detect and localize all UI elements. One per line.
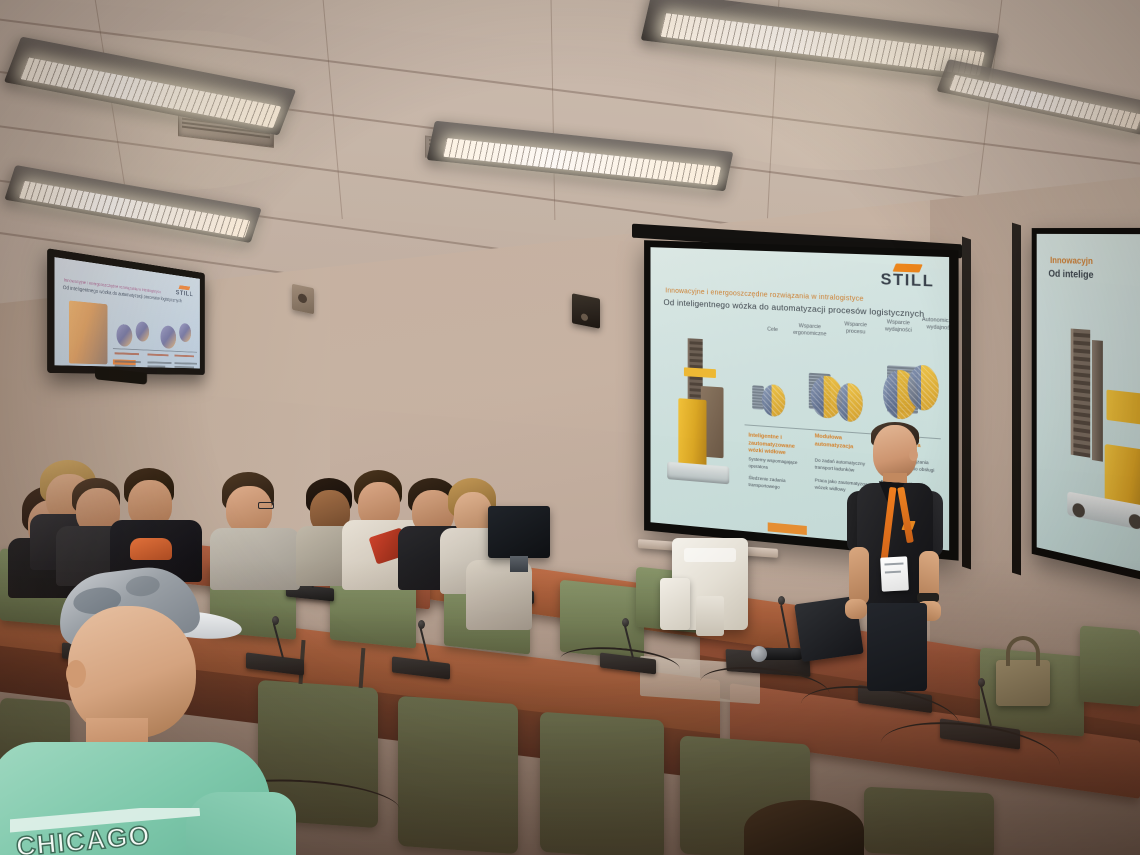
slide-column-header-2: Wsparcie procesu [835,321,877,337]
screen-side-trim [962,237,971,570]
tv-forklift-graphic [69,300,107,364]
slide-graphic-3b [908,364,939,411]
presenter-arm-left [849,547,869,605]
student-sleeve [186,792,296,855]
slide-column-header-3: Wsparcie wydajności [877,319,920,335]
orange-backpack [130,538,172,560]
still-logo-bar [892,263,922,272]
slide-title-main: Od inteligentnego wózka do automatyzacji… [663,297,924,319]
desktop-monitor [488,506,550,558]
slide-accent-bar [768,522,807,535]
shoulder-bag [996,660,1050,706]
slide-column-header-1: Wsparcie ergonomiczne [789,323,830,339]
presenter-monitor-secondary [660,578,690,630]
handheld-microphone[interactable] [758,648,804,660]
wall-speaker-2 [572,293,600,328]
presenter-hand-left [845,599,867,619]
slide-graphic-1 [762,384,785,417]
secondary-slide-title-main: Od intelige [1048,269,1093,281]
secondary-forklift-graphic [1066,328,1140,532]
secondary-slide: Innowacyjn Od intelige [1037,234,1140,574]
name-badge [880,556,909,591]
foreground-student: CHICAGO [0,560,300,855]
secondary-slide-title-top: Innowacyjn [1050,255,1093,266]
slide-graphic-2b [837,382,863,422]
presenter [845,425,955,690]
conference-room-photo: STILL Innowacyjne i energooszczędne rozw… [0,0,1140,855]
slide-column-header-4: Autonomiczna wydajność [918,317,949,333]
tv-screen: STILL Innowacyjne i energooszczędne rozw… [55,257,200,368]
still-wordmark: STILL [881,272,935,290]
presenter-ear [909,449,918,461]
tv-still-wordmark: STILL [176,289,194,298]
slide-axis-label: Cele [752,326,793,335]
secondary-projection-screen: Innowacyjn Od intelige [1032,228,1140,584]
student-head-partial [744,800,864,855]
eyeglasses [258,502,274,509]
wall-speaker [292,284,314,315]
slide-section-line-1b: Śledzenie zadania transportowego [748,474,808,493]
slide-forklift-illustration [663,337,736,489]
presenter-trousers [867,603,927,691]
student-ear [66,660,86,688]
still-logo: STILL [881,263,935,291]
tshirt-print: CHICAGO [10,808,200,855]
tv-still-logo: STILL [176,285,194,298]
screen-side-trim-2 [1012,223,1021,576]
